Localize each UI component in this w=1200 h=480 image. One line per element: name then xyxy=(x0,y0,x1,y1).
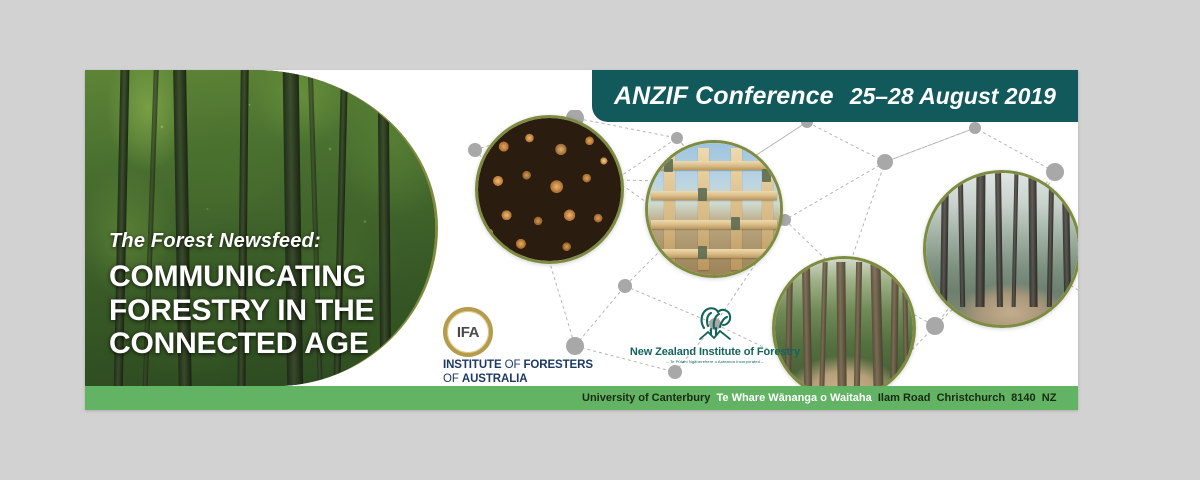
ifa-of-word-2: OF xyxy=(443,373,462,385)
hero-headline: COMMUNICATING FORESTRY IN THE CONNECTED … xyxy=(109,260,439,361)
ifa-monogram-text: IFA xyxy=(457,324,479,341)
ifa-logo: IFA INSTITUTE OF FORESTERS OF AUSTRALIA xyxy=(443,307,613,386)
ifa-line-2: OF AUSTRALIA xyxy=(443,373,613,387)
conference-dates: 25–28 August 2019 xyxy=(850,83,1056,110)
nzif-tree-mountain-icon xyxy=(625,302,805,344)
nzif-name: New Zealand Institute of Forestry xyxy=(625,346,805,358)
headline-line-3: CONNECTED AGE xyxy=(109,327,439,361)
hero-kicker: The Forest Newsfeed: xyxy=(109,230,439,253)
venue-city: Christchurch xyxy=(937,392,1005,404)
headline-line-2: FORESTRY IN THE xyxy=(109,294,439,328)
headline-line-1: COMMUNICATING xyxy=(109,260,439,294)
venue-university: University of Canterbury xyxy=(582,392,710,404)
nzif-subtitle: – Te Pūtahi Ngāherehere o Aotearoa Incor… xyxy=(629,359,802,364)
ifa-institute-word: INSTITUTE xyxy=(443,359,505,371)
venue-street: Ilam Road xyxy=(878,392,931,404)
ifa-foresters-word: FORESTERS xyxy=(524,359,593,371)
venue-postcode: 8140 xyxy=(1011,392,1035,404)
venue-footer-bar: University of Canterbury Te Whare Wānang… xyxy=(85,386,1078,410)
ifa-australia-word: AUSTRALIA xyxy=(462,373,528,385)
venue-country: NZ xyxy=(1042,392,1057,404)
venue-maori-name: Te Whare Wānanga o Waitaha xyxy=(717,392,872,404)
misty-forest-image xyxy=(926,173,1078,325)
nzif-logo: New Zealand Institute of Forestry – Te P… xyxy=(625,302,805,364)
ifa-of-word-1: OF xyxy=(505,359,524,371)
conference-header-bar: ANZIF Conference 25–28 August 2019 xyxy=(592,70,1078,122)
hero-text-block: The Forest Newsfeed: COMMUNICATING FORES… xyxy=(109,230,439,361)
venue-address: University of Canterbury Te Whare Wānang… xyxy=(582,392,1056,404)
screenshot-stage: The Forest Newsfeed: COMMUNICATING FORES… xyxy=(0,0,1200,480)
photo-circle-misty-forest xyxy=(923,170,1078,328)
ifa-monogram-icon: IFA xyxy=(443,307,493,357)
conference-title: ANZIF Conference xyxy=(614,82,834,111)
ifa-line-1: INSTITUTE OF FORESTERS xyxy=(443,359,613,373)
photo-circle-log-stack xyxy=(475,115,624,264)
log-stack-image xyxy=(478,118,621,261)
timber-frame-image xyxy=(648,143,780,275)
conference-banner: The Forest Newsfeed: COMMUNICATING FORES… xyxy=(85,70,1078,410)
photo-circle-timber-frame xyxy=(645,140,783,278)
